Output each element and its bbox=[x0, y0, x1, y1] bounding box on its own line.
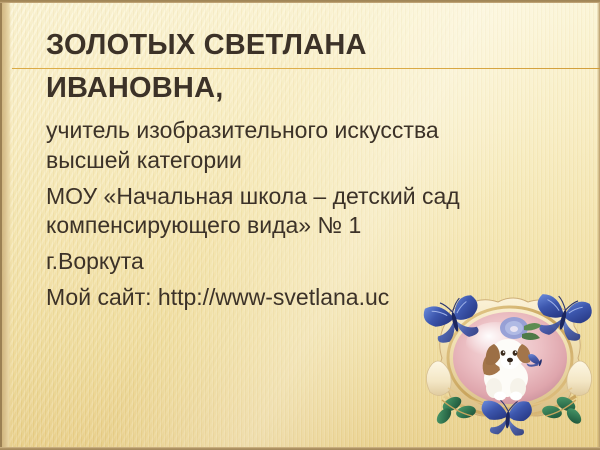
puppy-butterfly-medallion-decoration bbox=[418, 292, 600, 440]
slide-title-line-1: ЗОЛОТЫХ СВЕТЛАНА bbox=[46, 24, 566, 67]
body-line-institution: МОУ «Начальная школа – детский сад компе… bbox=[46, 182, 566, 242]
left-border-line bbox=[0, 0, 2, 450]
slide-title-line-2: ИВАНОВНА, bbox=[46, 67, 566, 110]
top-border-line bbox=[0, 0, 600, 3]
puppy-illustration bbox=[483, 339, 531, 401]
slide-body: учитель изобразительного искусства высше… bbox=[46, 116, 566, 313]
slide-content: ЗОЛОТЫХ СВЕТЛАНА ИВАНОВНА, учитель изобр… bbox=[46, 24, 566, 319]
body-line-position: учитель изобразительного искусства высше… bbox=[46, 116, 566, 176]
body-line-city: г.Воркута bbox=[46, 247, 566, 277]
presentation-slide: ЗОЛОТЫХ СВЕТЛАНА ИВАНОВНА, учитель изобр… bbox=[0, 0, 600, 450]
